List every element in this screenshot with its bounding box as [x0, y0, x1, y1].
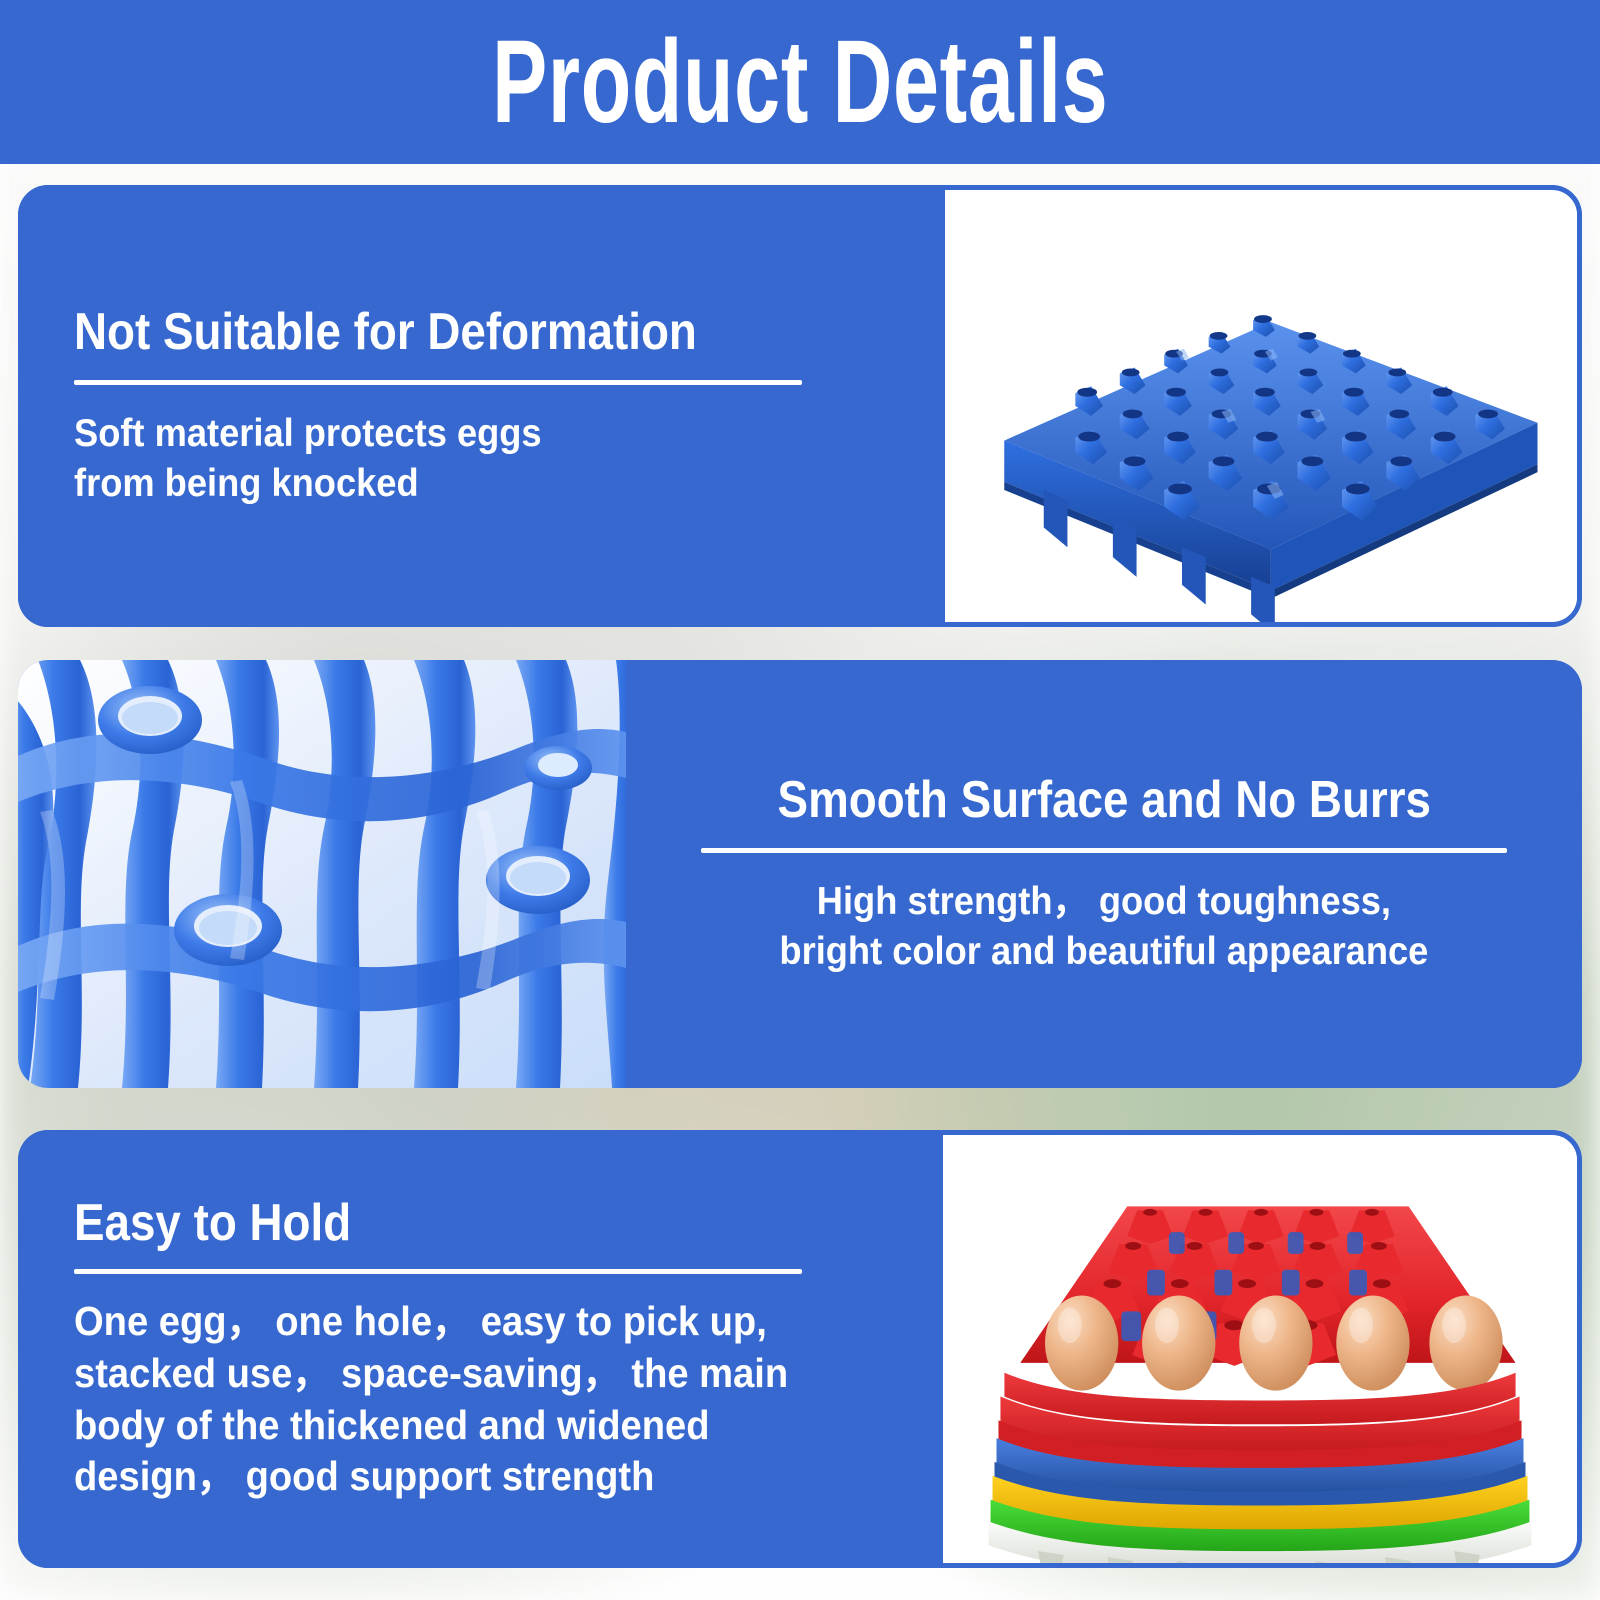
page-header-banner: Product Details — [0, 0, 1600, 164]
title-divider — [74, 1269, 802, 1274]
page-title: Product Details — [492, 23, 1108, 141]
card-title: Smooth Surface and No Burrs — [777, 772, 1430, 828]
card-body-text: One egg， one hole， easy to pick up, stac… — [74, 1296, 878, 1503]
card-body-text: High strength， good toughness, bright co… — [780, 877, 1429, 977]
card-text-pane: Easy to Hold One egg， one hole， easy to … — [18, 1130, 938, 1568]
card-body-text: Soft material protects eggs from being k… — [74, 409, 879, 509]
feature-card-smooth-surface: Smooth Surface and No Burrs High strengt… — [18, 660, 1582, 1088]
blue-tray-closeup-texture-image — [18, 660, 626, 1088]
card-title: Not Suitable for Deformation — [74, 304, 836, 360]
feature-card-easy-to-hold: Easy to Hold One egg， one hole， easy to … — [18, 1130, 1582, 1568]
blue-egg-tray-stack-image — [940, 185, 1582, 627]
product-details-page: Product Details Not Suitable for Deforma… — [0, 0, 1600, 1600]
feature-card-deformation: Not Suitable for Deformation Soft materi… — [18, 185, 1582, 627]
multicolor-tray-stack-image — [938, 1130, 1582, 1568]
card-text-pane: Smooth Surface and No Burrs High strengt… — [626, 660, 1582, 1088]
title-divider — [74, 380, 802, 385]
card-text-pane: Not Suitable for Deformation Soft materi… — [18, 185, 940, 627]
title-divider — [701, 848, 1507, 853]
card-title: Easy to Hold — [74, 1195, 834, 1251]
